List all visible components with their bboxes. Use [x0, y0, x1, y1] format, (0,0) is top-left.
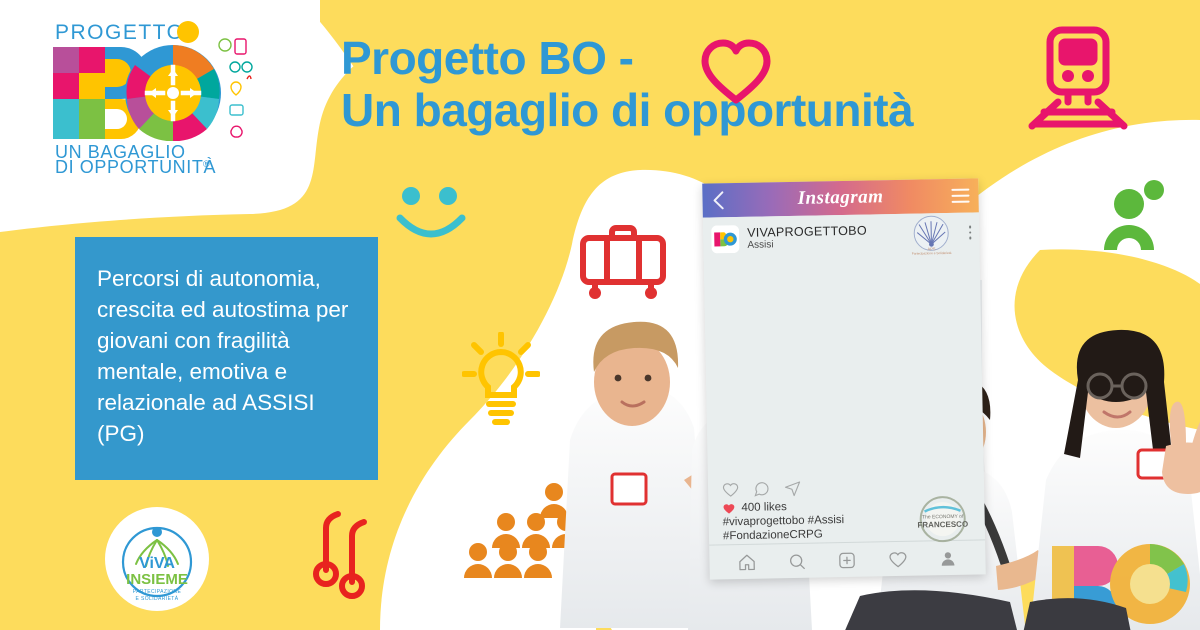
instagram-meta: 400 likes #vivaprogettobo #Assisi #Fonda… — [708, 496, 985, 545]
likes-count: 400 likes — [741, 501, 787, 514]
add-post-icon[interactable] — [838, 550, 857, 569]
poster-canvas: PROGETTO — [0, 0, 1200, 630]
viva-sub1: PARTECIPAZIONE — [133, 589, 182, 595]
info-box: Percorsi di autonomia, crescita ed autos… — [75, 237, 378, 480]
share-icon[interactable] — [784, 480, 801, 497]
economy-of-francesco-stamp: The ECONOMY of FRANCESCO — [910, 492, 975, 545]
music-notes-icon — [312, 508, 384, 600]
instagram-username[interactable]: VIVAPROGETTOBO — [747, 224, 867, 239]
comment-icon[interactable] — [753, 481, 770, 498]
logo-trademark: ® — [203, 159, 210, 169]
viva-label: ViVA — [139, 555, 175, 572]
instagram-wordmark: Instagram — [797, 186, 883, 210]
search-icon[interactable] — [787, 551, 806, 570]
more-vertical-icon[interactable] — [969, 226, 972, 243]
viva-insieme-logo: ViVA INSIEME PARTECIPAZIONE E SOLIDARIET… — [104, 506, 210, 612]
bo-logo-avatar[interactable] — [711, 225, 740, 254]
person-right — [1030, 330, 1200, 630]
smiley-face-icon — [392, 184, 470, 244]
lightbulb-icon — [462, 332, 540, 432]
home-icon[interactable] — [737, 552, 756, 571]
liked-heart-icon — [722, 502, 735, 515]
aps-viva-insieme-badge: APS Partecipazione e Solidarietà — [909, 214, 954, 257]
train-icon — [1028, 26, 1128, 130]
svg-text:FRANCESCO: FRANCESCO — [917, 519, 968, 529]
heart-outline-icon — [700, 38, 772, 104]
insieme-label: INSIEME — [126, 571, 188, 588]
hamburger-menu-icon[interactable] — [951, 189, 969, 203]
profile-icon[interactable] — [939, 548, 958, 567]
viva-sub2: E SOLIDARIETÀ — [136, 595, 179, 602]
logo-top-text: PROGETTO — [55, 21, 184, 44]
info-box-text: Percorsi di autonomia, crescita ed autos… — [97, 263, 356, 449]
instagram-location[interactable]: Assisi — [747, 238, 867, 251]
instagram-topbar: Instagram — [702, 178, 979, 217]
instagram-photo-frame: Instagram VIVAPROGE — [702, 178, 986, 579]
instagram-navbar — [709, 539, 986, 579]
activity-heart-icon[interactable] — [888, 549, 907, 568]
chevron-left-icon[interactable] — [711, 190, 725, 210]
progetto-bo-logo: PROGETTO — [44, 16, 260, 176]
logo-bottom-line2: DI OPPORTUNITÀ — [55, 157, 216, 175]
instagram-userbar: VIVAPROGETTOBO Assisi APS Partecipazione… — [703, 212, 980, 261]
page-title: Progetto BO - Un bagaglio di opportunità — [341, 33, 1021, 136]
frame-cutout-window — [716, 257, 972, 476]
heart-icon[interactable] — [722, 481, 739, 498]
svg-text:Partecipazione e Solidarietà: Partecipazione e Solidarietà — [912, 251, 952, 256]
